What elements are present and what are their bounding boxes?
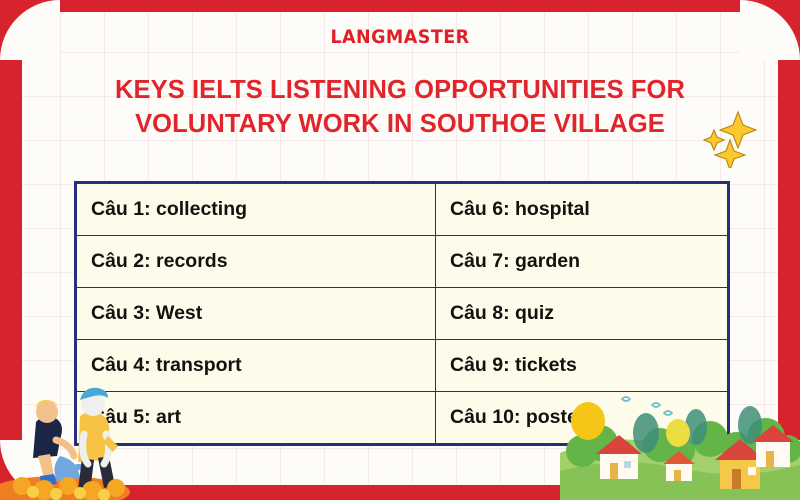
table-row: Câu 2: records Câu 7: garden bbox=[77, 236, 728, 288]
table-row: Câu 3: West Câu 8: quiz bbox=[77, 288, 728, 340]
page-title-line1: KEYS IELTS LISTENING OPPORTUNITIES FOR bbox=[115, 76, 685, 104]
sparkle-icon bbox=[700, 108, 770, 168]
answer-key-card: LANGMASTER KEYS IELTS LISTENING OPPORTUN… bbox=[0, 0, 800, 500]
table-row: Câu 1: collecting Câu 6: hospital bbox=[77, 184, 728, 236]
answer-cell: Câu 7: garden bbox=[436, 236, 728, 288]
answer-cell: Câu 6: hospital bbox=[436, 184, 728, 236]
answer-cell: Câu 8: quiz bbox=[436, 288, 728, 340]
volunteers-illustration bbox=[0, 360, 150, 500]
village-illustration bbox=[560, 375, 800, 500]
page-title: KEYS IELTS LISTENING OPPORTUNITIES FOR V… bbox=[60, 74, 740, 142]
langmaster-logo: LANGMASTER bbox=[32, 26, 768, 48]
page-title-line2: VOLUNTARY WORK IN SOUTHOE VILLAGE bbox=[60, 108, 740, 142]
answer-cell: Câu 2: records bbox=[77, 236, 436, 288]
answer-cell: Câu 3: West bbox=[77, 288, 436, 340]
answer-cell: Câu 1: collecting bbox=[77, 184, 436, 236]
